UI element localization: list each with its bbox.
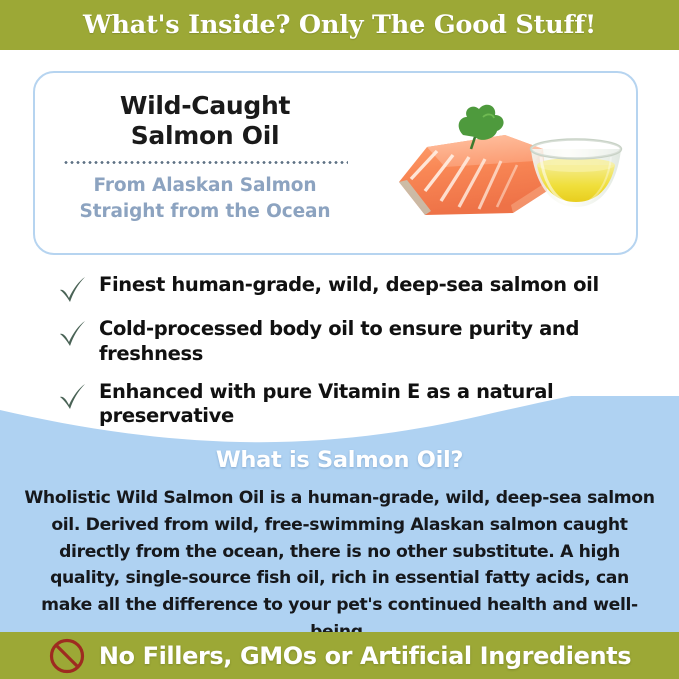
info-body-text: Wholistic Wild Salmon Oil is a human-gra… (23, 485, 657, 646)
info-section: What is Salmon Oil? Wholistic Wild Salmo… (0, 447, 679, 646)
product-subtitle: From Alaskan Salmon Straight from the Oc… (35, 173, 375, 224)
product-card: Wild-Caught Salmon Oil From Alaskan Salm… (33, 71, 638, 255)
info-heading: What is Salmon Oil? (0, 447, 679, 473)
benefits-list: Finest human-grade, wild, deep-sea salmo… (57, 273, 647, 442)
check-icon (57, 275, 87, 304)
salmon-and-oil-image (385, 87, 635, 247)
product-title: Wild-Caught Salmon Oil (35, 91, 375, 150)
dotted-divider (63, 161, 348, 164)
oil-bowl-icon (531, 140, 621, 208)
bottom-banner-title: No Fillers, GMOs or Artificial Ingredien… (99, 642, 631, 670)
top-banner-title: What's Inside? Only The Good Stuff! (83, 10, 596, 40)
benefit-item: Cold-processed body oil to ensure purity… (57, 317, 647, 367)
benefit-text: Cold-processed body oil to ensure purity… (99, 317, 619, 367)
check-icon (57, 382, 87, 411)
product-infographic: What's Inside? Only The Good Stuff! Wild… (0, 0, 679, 679)
bottom-banner: No Fillers, GMOs or Artificial Ingredien… (0, 632, 679, 679)
benefit-item: Finest human-grade, wild, deep-sea salmo… (57, 273, 647, 304)
benefit-text: Enhanced with pure Vitamin E as a natura… (99, 380, 619, 430)
benefit-item: Enhanced with pure Vitamin E as a natura… (57, 380, 647, 430)
top-banner: What's Inside? Only The Good Stuff! (0, 0, 679, 50)
product-card-text: Wild-Caught Salmon Oil From Alaskan Salm… (35, 91, 375, 224)
prohibition-icon (48, 637, 86, 675)
benefit-text: Finest human-grade, wild, deep-sea salmo… (99, 273, 599, 298)
check-icon (57, 319, 87, 348)
